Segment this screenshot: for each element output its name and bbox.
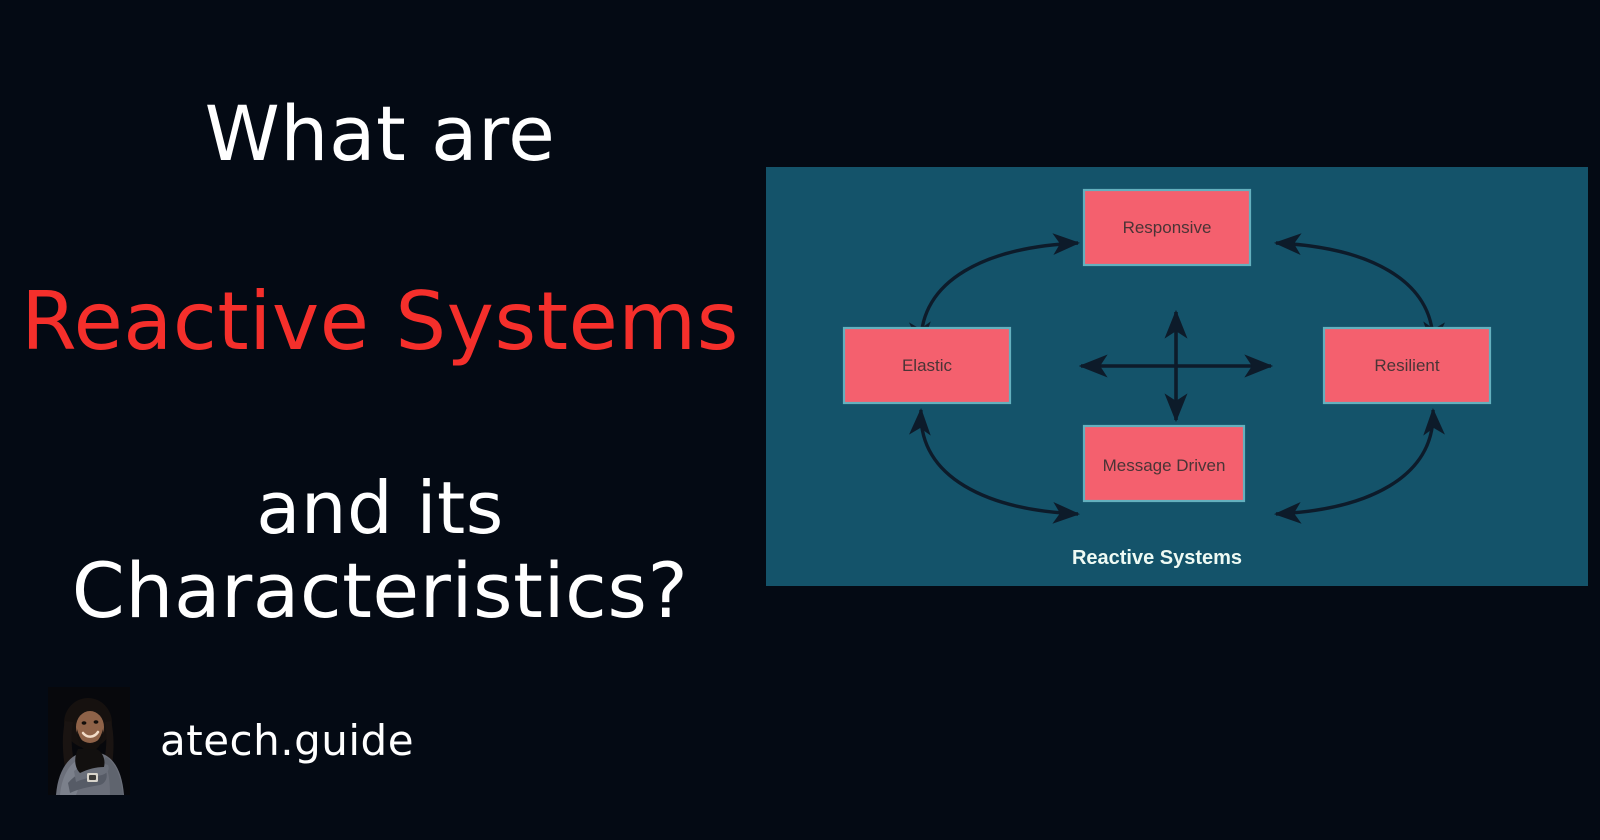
avatar-portrait-icon [48,687,130,795]
node-resilient[interactable]: Resilient [1324,328,1490,403]
diagram-caption: Reactive Systems [1072,547,1242,569]
node-elastic-label: Elastic [902,356,953,375]
node-resilient-label: Resilient [1374,356,1439,375]
title-column: What are Reactive Systems and its Charac… [0,0,760,840]
headline-line-1: What are [0,96,760,172]
node-responsive-label: Responsive [1123,218,1212,237]
headline-line-2-highlight: Reactive Systems [0,282,760,362]
footer-brand: atech.guide [48,687,414,795]
node-elastic[interactable]: Elastic [844,328,1010,403]
headline-line-3: and its [0,472,760,544]
node-responsive[interactable]: Responsive [1084,190,1250,265]
reactive-systems-diagram-panel: Responsive Elastic Resilient Message Dri… [766,167,1588,586]
brand-name: atech.guide [160,720,414,762]
avatar [48,687,130,795]
headline-line-4: Characteristics? [0,553,760,629]
node-message-driven-label: Message Driven [1103,456,1226,475]
reactive-systems-diagram: Responsive Elastic Resilient Message Dri… [766,167,1588,586]
node-message-driven[interactable]: Message Driven [1084,426,1244,501]
